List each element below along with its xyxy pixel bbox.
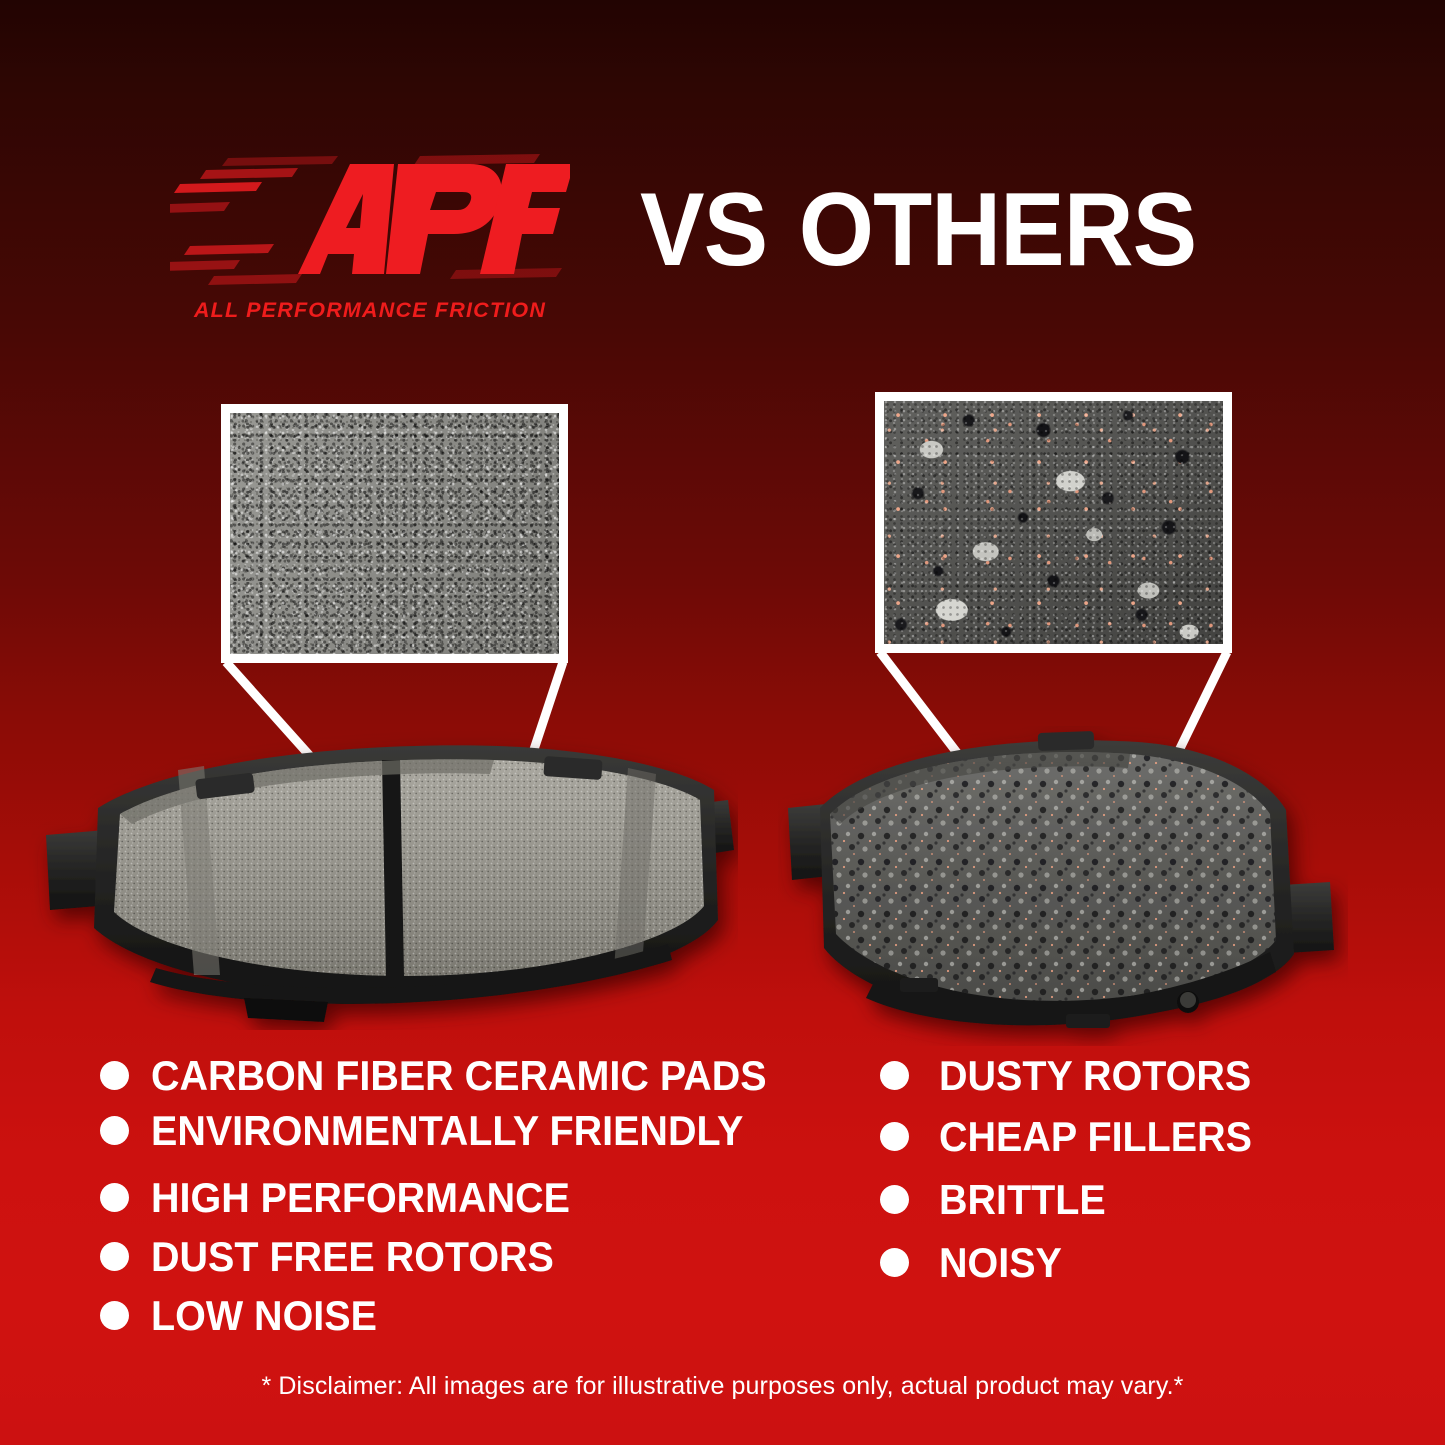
bullet-icon [880, 1248, 909, 1277]
feature-label: CHEAP FILLERS [939, 1113, 1252, 1160]
bullet-icon [880, 1122, 909, 1151]
list-item: HIGH PERFORMANCE [100, 1174, 840, 1221]
feature-label: NOISY [939, 1239, 1062, 1286]
feature-list-others: DUSTY ROTORS CHEAP FILLERS BRITTLE NOISY [880, 1052, 1350, 1294]
bullet-icon [100, 1301, 129, 1330]
feature-label: DUSTY ROTORS [939, 1052, 1251, 1099]
feature-label: ENVIRONMENTALLY FRIENDLY [151, 1107, 743, 1154]
feature-label: DUST FREE ROTORS [151, 1233, 554, 1280]
bullet-icon [100, 1242, 129, 1271]
bullet-icon [880, 1185, 909, 1214]
list-item: CARBON FIBER CERAMIC PADS [100, 1052, 840, 1099]
brake-pad-apf [28, 730, 738, 1030]
page-title: VSOTHERS [640, 178, 1196, 282]
list-item: BRITTLE [880, 1176, 1350, 1223]
inset-box-apf [221, 404, 568, 663]
comparison-poster: ALL PERFORMANCE FRICTION VSOTHERS [0, 0, 1445, 1445]
texture-coarse-grain-others [884, 401, 1223, 644]
disclaimer-text: * Disclaimer: All images are for illustr… [0, 1372, 1445, 1401]
brake-pad-others [778, 726, 1348, 1046]
feature-label: CARBON FIBER CERAMIC PADS [151, 1052, 767, 1099]
apf-logo: ALL PERFORMANCE FRICTION [170, 150, 570, 335]
title-vs: VS [640, 172, 767, 288]
feature-label: LOW NOISE [151, 1292, 377, 1339]
poster-header: ALL PERFORMANCE FRICTION VSOTHERS [0, 0, 1445, 345]
list-item: DUST FREE ROTORS [100, 1233, 840, 1280]
title-others: OTHERS [799, 172, 1196, 288]
bullet-icon [100, 1061, 129, 1090]
feature-label: HIGH PERFORMANCE [151, 1174, 570, 1221]
texture-fine-grain-apf [230, 413, 559, 654]
bullet-icon [880, 1061, 909, 1090]
apf-speed-logo-icon [170, 150, 570, 295]
list-item: DUSTY ROTORS [880, 1052, 1350, 1099]
bullet-icon [100, 1116, 129, 1145]
list-item: NOISY [880, 1239, 1350, 1286]
feature-label: BRITTLE [939, 1176, 1106, 1223]
logo-tagline: ALL PERFORMANCE FRICTION [170, 298, 570, 323]
list-item: CHEAP FILLERS [880, 1113, 1350, 1160]
feature-list-apf: CARBON FIBER CERAMIC PADS ENVIRONMENTALL… [100, 1052, 840, 1347]
bullet-icon [100, 1183, 129, 1212]
list-item: ENVIRONMENTALLY FRIENDLY [100, 1107, 840, 1154]
inset-box-others [875, 392, 1232, 653]
list-item: LOW NOISE [100, 1292, 840, 1339]
